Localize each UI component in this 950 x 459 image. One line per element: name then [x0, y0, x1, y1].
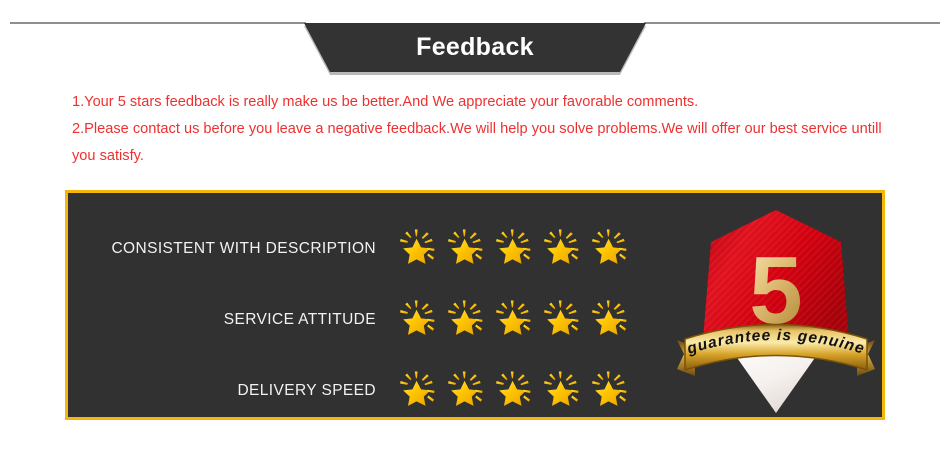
rating-row: CONSISTENT WITH DESCRIPTION: [68, 223, 638, 275]
star-icon: [494, 225, 538, 274]
note-line-2: 2.Please contact us before you leave a n…: [72, 116, 882, 170]
rating-row: DELIVERY SPEED: [68, 365, 638, 417]
ratings-list: CONSISTENT WITH DESCRIPTION SERVICE ATTI…: [68, 223, 638, 436]
star-rating-delivery-speed: [398, 367, 634, 416]
star-icon: [590, 367, 634, 416]
feedback-notes: 1.Your 5 stars feedback is really make u…: [72, 89, 882, 170]
star-icon: [446, 296, 490, 345]
star-icon: [398, 225, 442, 274]
star-icon: [590, 225, 634, 274]
rating-label-service-attitude: SERVICE ATTITUDE: [68, 311, 398, 329]
star-icon: [542, 296, 586, 345]
header-rule-right: [644, 22, 940, 24]
star-icon: [494, 367, 538, 416]
header-banner: Feedback: [0, 0, 950, 85]
star-icon: [398, 367, 442, 416]
star-icon: [542, 225, 586, 274]
star-rating-consistent-with-description: [398, 225, 634, 274]
page-title: Feedback: [304, 23, 646, 72]
star-icon: [542, 367, 586, 416]
rating-label-delivery-speed: DELIVERY SPEED: [68, 382, 398, 400]
star-icon: [590, 296, 634, 345]
star-icon: [446, 367, 490, 416]
guarantee-shield-badge: 5 guarantee is genuine: [671, 198, 881, 418]
rating-label-consistent-with-description: CONSISTENT WITH DESCRIPTION: [68, 240, 398, 258]
rating-row: SERVICE ATTITUDE: [68, 294, 638, 346]
rating-panel: CONSISTENT WITH DESCRIPTION SERVICE ATTI…: [65, 190, 885, 420]
header-rule-left: [10, 22, 306, 24]
star-icon: [398, 296, 442, 345]
star-icon: [494, 296, 538, 345]
star-icon: [446, 225, 490, 274]
note-line-1: 1.Your 5 stars feedback is really make u…: [72, 89, 882, 116]
star-rating-service-attitude: [398, 296, 634, 345]
